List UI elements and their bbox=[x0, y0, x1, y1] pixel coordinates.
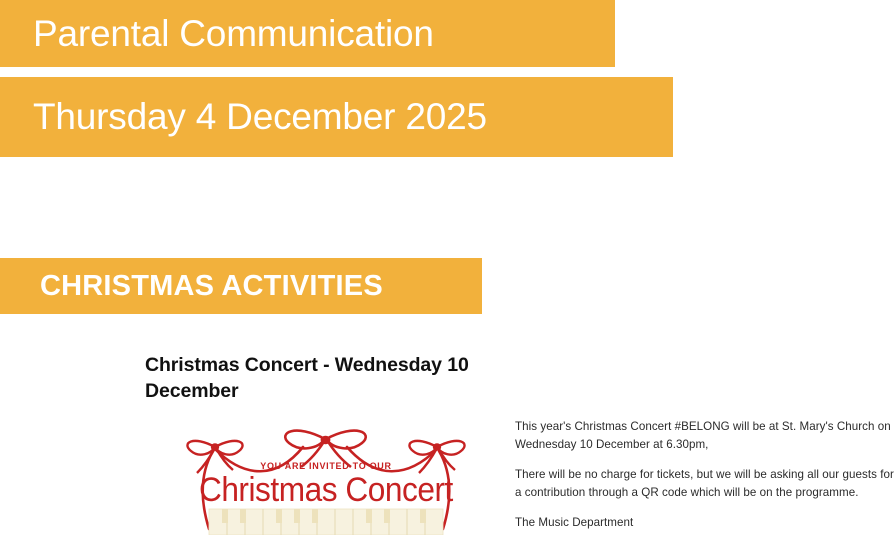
invitation-graphic-svg: YOU ARE INVITED TO OUR Christmas Concert bbox=[185, 417, 467, 535]
banner-title-text: Parental Communication bbox=[33, 13, 434, 55]
ribbon-bow-left bbox=[187, 441, 242, 473]
article-paragraph-2: There will be no charge for tickets, but… bbox=[515, 466, 895, 501]
banner-christmas-activities: CHRISTMAS ACTIVITIES bbox=[0, 258, 482, 314]
piano-keys bbox=[209, 509, 443, 535]
ribbon-bow-right bbox=[409, 441, 464, 473]
article-body: YOU ARE INVITED TO OUR Christmas Concert bbox=[145, 416, 895, 551]
article-paragraph-1: This year's Christmas Concert #BELONG wi… bbox=[515, 418, 895, 453]
invitation-title: Christmas Concert bbox=[199, 470, 453, 508]
article-signoff: The Music Department bbox=[515, 514, 895, 532]
article-heading: Christmas Concert - Wednesday 10 Decembe… bbox=[145, 352, 545, 404]
banner-date: Thursday 4 December 2025 bbox=[0, 77, 673, 157]
article-text-column: This year's Christmas Concert #BELONG wi… bbox=[515, 416, 895, 532]
banner-date-text: Thursday 4 December 2025 bbox=[33, 96, 487, 138]
banner-parental-communication: Parental Communication bbox=[0, 0, 615, 67]
article-christmas-concert: Christmas Concert - Wednesday 10 Decembe… bbox=[145, 352, 895, 551]
christmas-concert-invitation-image: YOU ARE INVITED TO OUR Christmas Concert bbox=[185, 417, 467, 535]
section-heading-text: CHRISTMAS ACTIVITIES bbox=[40, 270, 383, 303]
